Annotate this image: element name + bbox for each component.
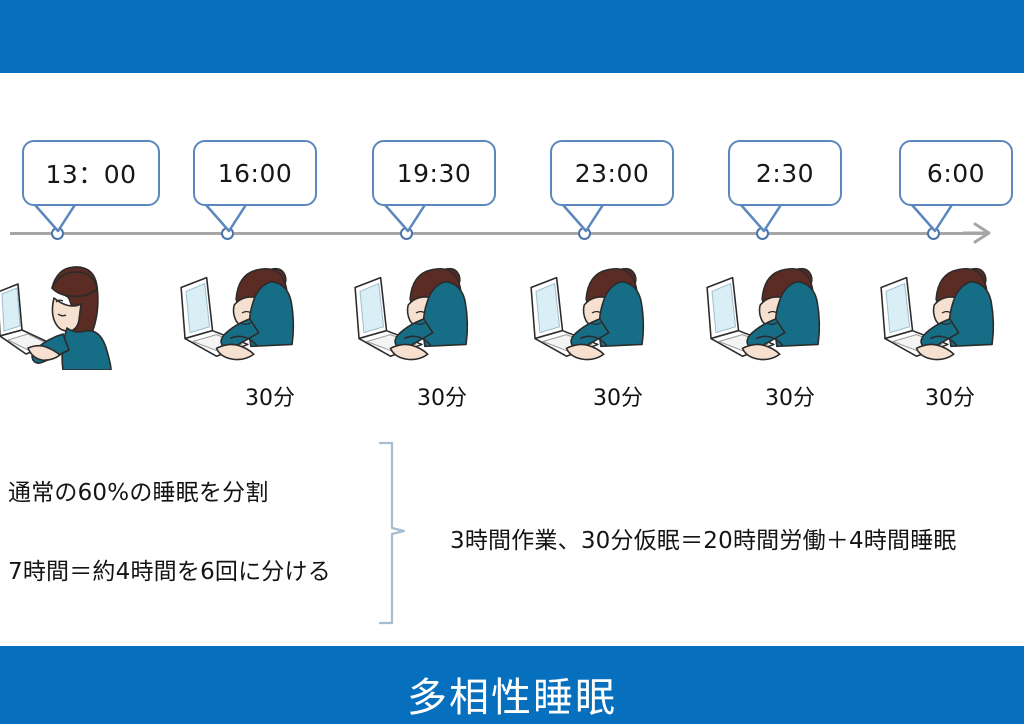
person-at-laptop-napping-illustration (172, 258, 312, 368)
person-at-laptop-napping-illustration (522, 258, 662, 368)
callout-bubble-1[interactable]: 13：00 (22, 140, 160, 206)
callout-time-label: 16:00 (218, 159, 293, 188)
summary-left-line-2: 7時間＝約4時間を6回に分ける (8, 552, 331, 586)
person-at-laptop-napping-illustration (872, 258, 1012, 368)
nap-duration-label: 30分 (548, 380, 688, 412)
person-at-laptop-awake-illustration (0, 258, 124, 370)
callout-time-label: 23:00 (575, 159, 650, 188)
callout-bubble-2[interactable]: 16:00 (193, 140, 317, 206)
nap-duration-label: 30分 (880, 380, 1020, 412)
top-accent-bar (0, 0, 1024, 73)
nap-duration-label: 30分 (720, 380, 860, 412)
callout-bubble-3[interactable]: 19:30 (372, 140, 496, 206)
callout-bubble-6[interactable]: 6:00 (899, 140, 1013, 206)
timeline-axis (10, 232, 985, 235)
nap-duration-label: 30分 (200, 380, 340, 412)
slide-footer-title: 多相性睡眠 (0, 646, 1024, 724)
curly-brace-icon (372, 440, 412, 626)
callout-bubble-4[interactable]: 23:00 (550, 140, 674, 206)
callout-time-label: 19:30 (397, 159, 472, 188)
summary-left-line-1: 通常の60%の睡眠を分割 (8, 473, 269, 507)
callout-time-label: 6:00 (927, 159, 985, 188)
summary-right-line: 3時間作業、30分仮眠＝20時間労働＋4時間睡眠 (450, 521, 957, 555)
callout-time-label: 2:30 (756, 159, 814, 188)
slide-canvas: 13：00 16:00 19:30 23:00 2:30 6:00 (0, 0, 1024, 724)
callout-time-label: 13：00 (45, 155, 136, 191)
callout-bubble-5[interactable]: 2:30 (728, 140, 842, 206)
nap-duration-label: 30分 (372, 380, 512, 412)
person-at-laptop-napping-illustration (698, 258, 838, 368)
person-at-laptop-napping-illustration (346, 258, 486, 368)
